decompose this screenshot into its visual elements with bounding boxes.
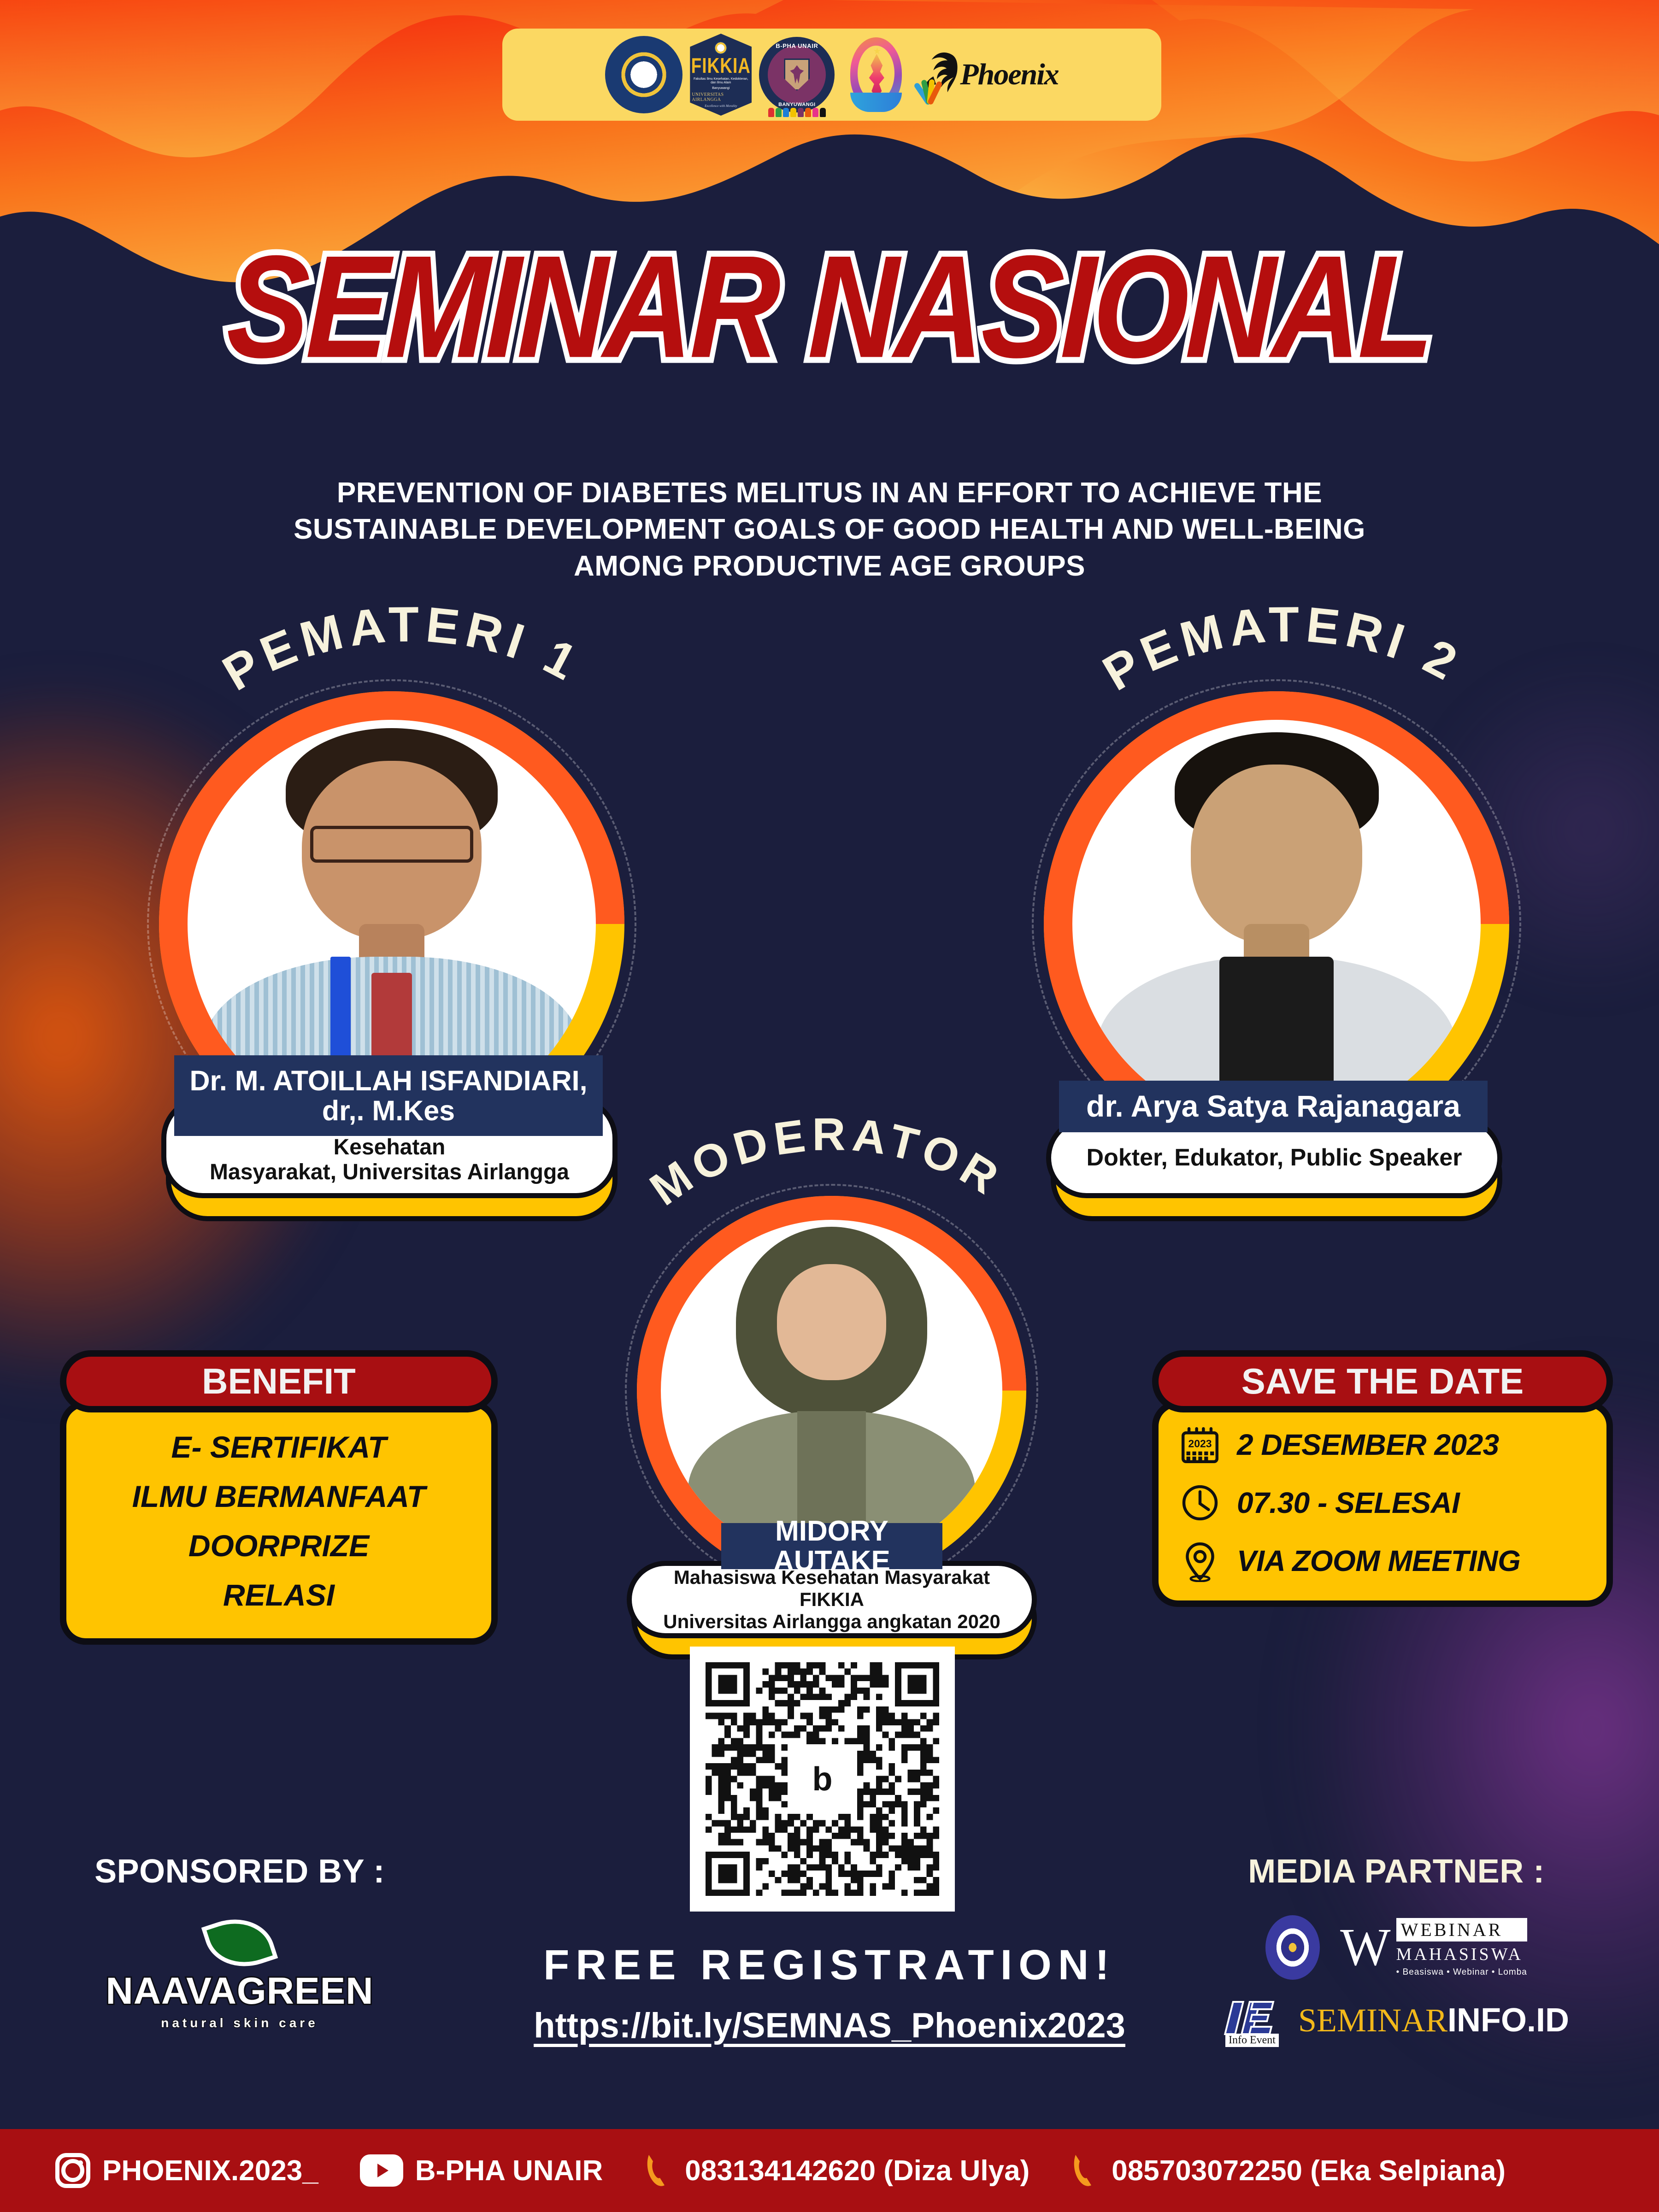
free-registration-label: FREE REGISTRATION! xyxy=(543,1941,1116,1989)
fikkia-city-line: Banyuwangi xyxy=(712,87,729,90)
webinar-mahasiswa-line-3: • Beasiswa • Webinar • Lomba xyxy=(1396,1967,1527,1977)
instagram-handle: PHOENIX.2023_ xyxy=(102,2154,318,2187)
benefit-item: ILMU BERMANFAAT xyxy=(66,1472,491,1521)
phoenix-bird-icon xyxy=(918,47,958,102)
unair-seal-logo xyxy=(605,35,682,114)
event-time-value: 07.30 - SELESAI xyxy=(1237,1486,1459,1520)
webinar-mahasiswa-logo: W WEBINAR MAHASISWA • Beasiswa • Webinar… xyxy=(1340,1918,1527,1977)
sponsor-heading: SPONSORED BY : xyxy=(60,1853,419,1890)
save-the-date-heading-text: SAVE THE DATE xyxy=(1241,1360,1524,1402)
date-row-date: 2023 2 DESEMBER 2023 xyxy=(1179,1424,1593,1466)
phone-icon xyxy=(1071,2152,1100,2189)
instagram-icon xyxy=(55,2153,90,2188)
date-row-location: VIA ZOOM MEETING xyxy=(1179,1540,1593,1582)
save-the-date-panel: SAVE THE DATE 2023 xyxy=(1152,1350,1613,1607)
bpha-unair-logo: B-PHA UNAIR BANYUWANGI xyxy=(759,35,835,114)
fikkia-university-line: UNIVERSITAS AIRLANGGA xyxy=(692,92,750,102)
contact-instagram[interactable]: PHOENIX.2023_ xyxy=(55,2153,318,2188)
svg-text:2023: 2023 xyxy=(1188,1438,1212,1450)
date-row-time: 07.30 - SELESAI xyxy=(1179,1482,1593,1524)
info-event-mark-icon: Info Event xyxy=(1224,1998,1283,2042)
speaker-2-role-line-1: Dokter, Edukator, Public Speaker xyxy=(1087,1144,1462,1171)
naavagreen-tagline: natural skin care xyxy=(60,2016,419,2030)
calendar-icon: 2023 xyxy=(1179,1424,1221,1466)
moderator-card: Mahasiswa Kesehatan Masyarakat FIKKIA Un… xyxy=(613,1196,1051,1657)
moderator-role-line-2: Universitas Airlangga angkatan 2020 xyxy=(647,1611,1016,1633)
speaker-1-card: Dosen Epidemiologi Fakultas Kesehatan Ma… xyxy=(138,691,645,1235)
youtube-handle: B-PHA UNAIR xyxy=(415,2154,603,2187)
info-event-label: Info Event xyxy=(1225,2034,1279,2047)
phoenix-wordmark-logo: Phoenix xyxy=(918,35,1058,114)
fikkia-motto: Excellence with Morality xyxy=(705,104,737,108)
title-block: SEMINAR NASIONAL xyxy=(0,249,1659,365)
moderator-name-plate: MIDORY AUTAKE xyxy=(721,1523,942,1569)
phoenix-wordmark-text: Phoenix xyxy=(960,57,1058,92)
naavagreen-logo: NAAVAGREEN natural skin care xyxy=(60,1921,419,2030)
fikkia-faculty-line: Fakultas Ilmu Kesehatan, Kedokteran, dan… xyxy=(692,77,750,85)
bpha-top-text: B-PHA UNAIR xyxy=(759,42,835,49)
benefit-item: E- SERTIFIKAT xyxy=(66,1423,491,1472)
sponsor-section: SPONSORED BY : NAAVAGREEN natural skin c… xyxy=(60,1853,419,2030)
phoenix-gradient-mark xyxy=(842,35,911,114)
phone-icon xyxy=(644,2152,673,2189)
speaker-2-card: Dokter, Edukator, Public Speaker dr. Ary… xyxy=(1023,691,1530,1235)
location-pin-icon xyxy=(1179,1540,1221,1582)
poster-canvas: FIKKIA Fakultas Ilmu Kesehatan, Kedokter… xyxy=(0,0,1659,2212)
fikkia-mini-seal-icon xyxy=(714,41,727,54)
subtitle-line-2: SUSTAINABLE DEVELOPMENT GOALS OF GOOD HE… xyxy=(207,511,1452,547)
benefit-item: RELASI xyxy=(66,1571,491,1620)
phone-number-2: 085703072250 (Eka Selpiana) xyxy=(1112,2154,1506,2187)
page-subtitle: PREVENTION OF DIABETES MELITUS IN AN EFF… xyxy=(207,475,1452,584)
media-partner-section: MEDIA PARTNER : W WEBINAR MAHASISWA • Be… xyxy=(1189,1853,1604,2042)
bpha-people-icons xyxy=(759,108,835,117)
bpha-shield-icon xyxy=(784,59,810,91)
contact-phone-2[interactable]: 085703072250 (Eka Selpiana) xyxy=(1071,2152,1506,2189)
benefit-item: DOORPRIZE xyxy=(66,1521,491,1571)
speaker-2-name-plate: dr. Arya Satya Rajanagara xyxy=(1059,1081,1488,1132)
speaker-1-name-plate: Dr. M. ATOILLAH ISFANDIARI, dr,. M.Kes xyxy=(174,1055,603,1136)
youtube-icon xyxy=(360,2154,403,2187)
phone-number-1: 083134142620 (Diza Ulya) xyxy=(685,2154,1030,2187)
clock-icon xyxy=(1179,1482,1221,1524)
seminarinfo-text-b: INFO.ID xyxy=(1447,2002,1569,2039)
webinar-mahasiswa-line-1: WEBINAR xyxy=(1396,1918,1527,1941)
speaker-1-name-line-2: dr,. M.Kes xyxy=(322,1096,455,1125)
subtitle-line-3: AMONG PRODUCTIVE AGE GROUPS xyxy=(207,548,1452,584)
naavagreen-wordmark: NAAVAGREEN xyxy=(60,1970,419,2013)
save-the-date-heading: SAVE THE DATE xyxy=(1152,1350,1613,1412)
benefit-body: E- SERTIFIKAT ILMU BERMANFAAT DOORPRIZE … xyxy=(60,1400,498,1645)
benefit-list: E- SERTIFIKAT ILMU BERMANFAAT DOORPRIZE … xyxy=(66,1407,491,1638)
speaker-2-photo xyxy=(1072,720,1481,1128)
seminarinfo-id-logo: Info Event SEMINARINFO.ID xyxy=(1189,1998,1604,2042)
benefit-heading-text: BENEFIT xyxy=(202,1360,356,1402)
event-location-value: VIA ZOOM MEETING xyxy=(1237,1544,1520,1578)
webinar-mahasiswa-line-2: MAHASISWA xyxy=(1396,1944,1527,1965)
seminarinfo-text-a: SEMINAR xyxy=(1298,2002,1447,2039)
benefit-heading: BENEFIT xyxy=(60,1350,498,1412)
page-title: SEMINAR NASIONAL xyxy=(225,238,1434,375)
logo-bar: FIKKIA Fakultas Ilmu Kesehatan, Kedokter… xyxy=(502,29,1161,121)
fikkia-logo: FIKKIA Fakultas Ilmu Kesehatan, Kedokter… xyxy=(690,35,752,114)
speaker-1-role-line-2: Masyarakat, Universitas Airlangga xyxy=(185,1160,594,1185)
registration-link[interactable]: https://bit.ly/SEMNAS_Phoenix2023 xyxy=(534,2006,1125,2046)
bitly-logo-icon: b xyxy=(797,1754,848,1805)
speaker-1-name-line-1: Dr. M. ATOILLAH ISFANDIARI, xyxy=(189,1066,587,1095)
speaker-2-name-line-1: dr. Arya Satya Rajanagara xyxy=(1086,1090,1460,1122)
registration-qr-code[interactable]: b xyxy=(690,1647,955,1912)
speaker-1-glasses-icon xyxy=(310,826,473,863)
moderator-name-text: MIDORY AUTAKE xyxy=(721,1516,942,1576)
save-the-date-body: 2023 2 DESEMBER 2023 xyxy=(1152,1400,1613,1607)
contact-phone-1[interactable]: 083134142620 (Diza Ulya) xyxy=(644,2152,1030,2189)
gerakan-mahasiswa-tuban-logo xyxy=(1265,1915,1320,1980)
benefit-panel: BENEFIT E- SERTIFIKAT ILMU BERMANFAAT DO… xyxy=(60,1350,498,1645)
event-date-value: 2 DESEMBER 2023 xyxy=(1237,1428,1499,1462)
bpha-bottom-text: BANYUWANGI xyxy=(759,102,835,107)
media-partner-heading: MEDIA PARTNER : xyxy=(1189,1853,1604,1890)
subtitle-line-1: PREVENTION OF DIABETES MELITUS IN AN EFF… xyxy=(207,475,1452,511)
moderator-photo xyxy=(661,1220,1002,1561)
contact-bar: PHOENIX.2023_ B-PHA UNAIR 083134142620 (… xyxy=(0,2129,1659,2212)
fikkia-wordmark: FIKKIA xyxy=(691,54,751,78)
leaf-icon xyxy=(206,1913,273,1972)
contact-youtube[interactable]: B-PHA UNAIR xyxy=(360,2154,603,2187)
